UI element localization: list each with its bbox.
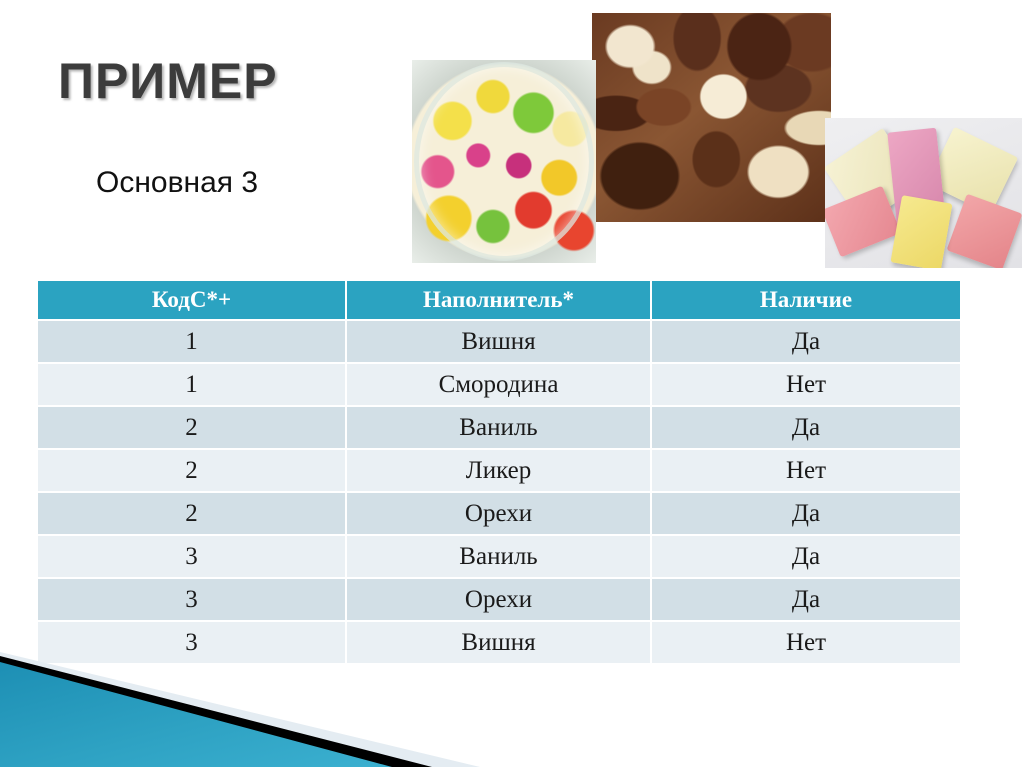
cell-kod: 2 (38, 449, 346, 492)
fruit-candies-jar-photo (412, 60, 596, 263)
table-row: 2ЛикерНет (38, 449, 960, 492)
cell-kod: 2 (38, 492, 346, 535)
table-row: 3ОрехиДа (38, 578, 960, 621)
cell-nalichie: Нет (651, 449, 960, 492)
cell-nalichie: Да (651, 535, 960, 578)
cell-nalichie: Да (651, 578, 960, 621)
cell-kod: 1 (38, 320, 346, 363)
table-row: 3ВанильДа (38, 535, 960, 578)
cell-napolnitel: Ваниль (346, 406, 651, 449)
cell-kod: 1 (38, 363, 346, 406)
cell-kod: 2 (38, 406, 346, 449)
jar-rim (414, 62, 594, 261)
cell-napolnitel: Ликер (346, 449, 651, 492)
presentation-slide: ПРИМЕР Основная 3 КодС*+ Наполнитель* На… (0, 0, 1024, 767)
page-title: ПРИМЕР (58, 52, 278, 110)
column-header-napolnitel: Наполнитель* (346, 281, 651, 320)
table-row: 2ВанильДа (38, 406, 960, 449)
table-caption: Основная 3 (96, 166, 258, 200)
marshmallow-bars-photo (825, 118, 1022, 268)
chocolates-photo (592, 13, 831, 222)
cell-napolnitel: Ваниль (346, 535, 651, 578)
data-table: КодС*+ Наполнитель* Наличие 1ВишняДа1Смо… (38, 281, 960, 665)
table-body: 1ВишняДа1СмородинаНет2ВанильДа2ЛикерНет2… (38, 320, 960, 664)
cell-nalichie: Да (651, 406, 960, 449)
cell-nalichie: Нет (651, 363, 960, 406)
cell-kod: 3 (38, 578, 346, 621)
table-row: 1СмородинаНет (38, 363, 960, 406)
fruit-candies-jar-image (412, 60, 596, 263)
cell-napolnitel: Вишня (346, 320, 651, 363)
table-header-row: КодС*+ Наполнитель* Наличие (38, 281, 960, 320)
corner-graphic-shapes (0, 652, 512, 767)
column-header-nalichie: Наличие (651, 281, 960, 320)
marshmallow-bar (890, 195, 952, 268)
cell-napolnitel: Смородина (346, 363, 651, 406)
cell-nalichie: Да (651, 492, 960, 535)
cell-nalichie: Нет (651, 621, 960, 664)
bottom-left-corner-graphic (0, 652, 512, 767)
cell-nalichie: Да (651, 320, 960, 363)
chocolates-image (592, 13, 831, 222)
marshmallow-bar (947, 194, 1022, 268)
table-row: 1ВишняДа (38, 320, 960, 363)
marshmallow-bars-image (825, 118, 1022, 268)
cell-napolnitel: Орехи (346, 578, 651, 621)
cell-kod: 3 (38, 535, 346, 578)
teal-triangle (0, 662, 392, 767)
cell-napolnitel: Орехи (346, 492, 651, 535)
table-row: 2ОрехиДа (38, 492, 960, 535)
column-header-kod: КодС*+ (38, 281, 346, 320)
